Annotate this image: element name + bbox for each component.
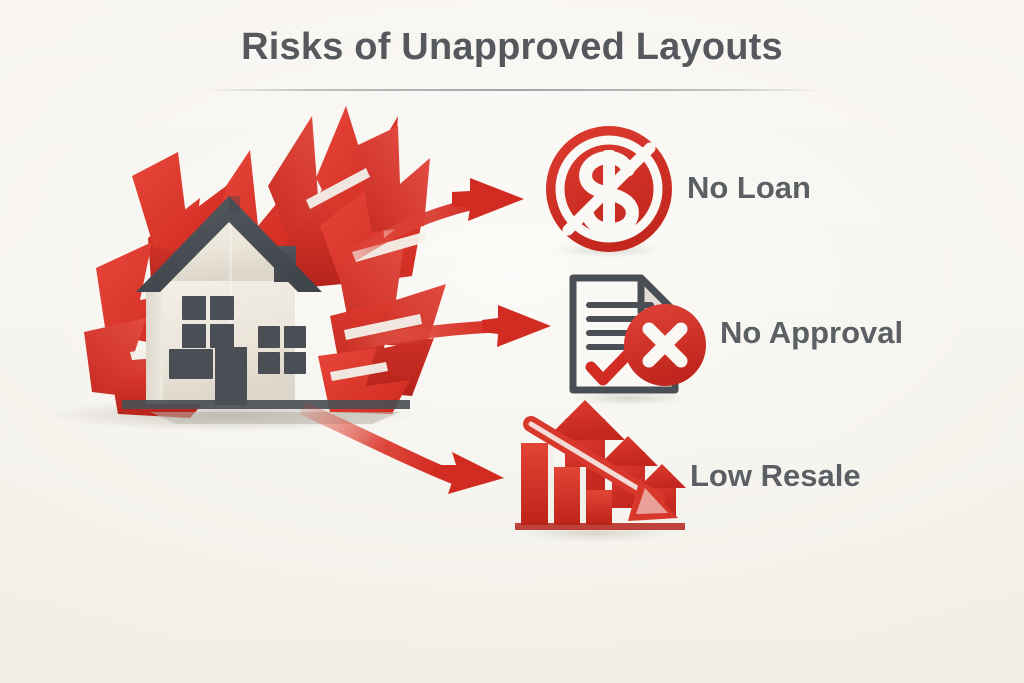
house-illustration-region[interactable] xyxy=(78,104,438,434)
risk-item-no-approval[interactable] xyxy=(566,272,906,396)
risk-item-no-loan[interactable] xyxy=(546,126,846,254)
page-title-text: Risks of Unapproved Layouts xyxy=(0,26,1024,69)
title-divider xyxy=(200,89,824,91)
infographic-canvas: Risks of Unapproved Layouts xyxy=(0,0,1024,683)
risk-item-low-resale[interactable] xyxy=(508,400,868,536)
page-title: Risks of Unapproved Layouts xyxy=(0,26,1024,69)
